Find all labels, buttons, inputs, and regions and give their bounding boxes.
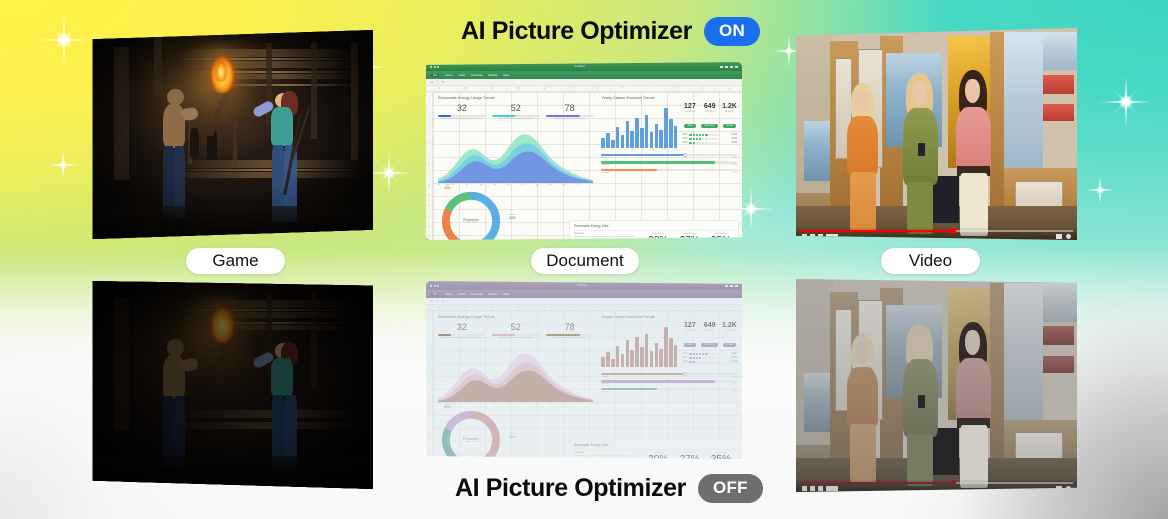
video-figure	[953, 70, 998, 235]
donut-chart[interactable]: Proportion Solar · 2024 Wind 22% Nuclear	[438, 188, 504, 240]
category-chip-document-label: Document	[546, 251, 623, 271]
volume-icon[interactable]	[818, 486, 823, 491]
xtick: 3	[612, 149, 613, 151]
video-figure	[900, 73, 945, 234]
slider-label: Biomass	[601, 164, 609, 166]
xtick: 01	[438, 184, 440, 186]
document-off-fade	[426, 281, 742, 459]
legend-dots	[689, 138, 729, 140]
xtick: 9	[642, 149, 643, 151]
video-progress-fill	[800, 230, 953, 232]
bar-chart[interactable]	[601, 106, 677, 148]
row-header[interactable]: 3	[426, 113, 432, 123]
area-chart-svg	[438, 125, 593, 183]
stat-value: 649	[701, 103, 718, 111]
row-header[interactable]: 10	[426, 185, 432, 195]
legend-dots	[689, 134, 729, 136]
game-panel-off[interactable]	[92, 281, 373, 489]
toggle-on-badge[interactable]: ON	[704, 17, 760, 46]
sheet-canvas: Renewable Energy Usage Trends 32 Solar R…	[433, 92, 742, 240]
promo-stage: AI Picture Optimizer ON	[0, 0, 1168, 519]
legend-value: 4,820	[731, 138, 737, 140]
video-panel-on[interactable]	[796, 28, 1077, 240]
header-on-title: AI Picture Optimizer	[461, 17, 692, 46]
game-dark-overlay-off	[92, 281, 373, 489]
row-header-column: 1 2 3 4 5 6 7 8 9 10 11 12 13 14 15 16	[426, 92, 433, 240]
play-icon[interactable]	[802, 486, 807, 491]
kpi-row: 32 Solar Renewable Energy Usage Overview…	[438, 103, 593, 121]
category-chip-video[interactable]: Video	[881, 248, 980, 274]
subtitles-icon[interactable]	[1056, 234, 1062, 239]
ribbon-file[interactable]: File	[431, 74, 439, 77]
xtick: 12	[591, 184, 593, 186]
donut-slice-value: 22%	[444, 186, 451, 190]
legend-year: 2019	[682, 142, 687, 144]
stat-label: PROJECTS	[682, 111, 697, 113]
kpi-value: 52	[492, 103, 540, 113]
legend-row: 2021 4,820	[682, 138, 737, 140]
donut-slice-value: 60%	[509, 216, 516, 220]
spreadsheet-window-on: Untitled File Home Insert Formulas Revie…	[426, 62, 742, 240]
kpi-value: 78	[546, 103, 594, 113]
area-chart-xaxis: 01 02 03 04 05 06 07 08 09 10 11	[438, 184, 593, 186]
xtick: 11	[652, 149, 654, 151]
category-chip-game-label: Game	[212, 251, 258, 271]
stat-card[interactable]: 1.2K RESULTS MORE	[722, 103, 737, 131]
video-progress-knob[interactable]	[950, 228, 956, 234]
time-text	[826, 486, 838, 491]
kpi-bar	[546, 115, 594, 117]
game-artwork-on	[92, 30, 373, 239]
stat-pill-button[interactable]: MORE	[723, 124, 736, 127]
video-figure	[953, 322, 998, 488]
ribbon-item-review[interactable]: Review	[488, 74, 497, 77]
stat-value: 1.2K	[722, 103, 737, 111]
slider-value: 84%	[733, 164, 737, 166]
slider-control[interactable]: Nuclear36%	[601, 154, 737, 159]
slider-label: Nuclear	[601, 157, 608, 159]
left-dashboard-panel: Renewable Energy Usage Trends 32 Solar R…	[438, 96, 593, 240]
row-header[interactable]: 5	[426, 133, 432, 143]
legend-row: 2023 5,230	[682, 134, 737, 136]
stat-label: RESULTS	[722, 111, 737, 113]
video-artwork-off	[796, 279, 1077, 492]
xtick: 03	[466, 184, 468, 186]
stat-value: 127	[682, 103, 697, 111]
row-header[interactable]: 9	[426, 174, 432, 184]
ribbon-item-insert[interactable]: Insert	[459, 74, 466, 77]
window-dots	[430, 66, 439, 68]
video-progress-track[interactable]	[800, 482, 1073, 484]
kpi-caption: Solar Renewable Energy Usage Overview	[438, 118, 486, 121]
stat-pill-button[interactable]: VIEW	[684, 124, 696, 127]
kpi-card[interactable]: 52 Annual Renewable Energy Growth	[492, 103, 540, 121]
ribbon-item-home[interactable]: Home	[445, 74, 452, 77]
video-progress-fill	[800, 482, 953, 484]
kpi-bar	[438, 115, 486, 117]
column-header[interactable]: I	[637, 86, 663, 91]
sheet-body: 1 2 3 4 5 6 7 8 9 10 11 12 13 14 15 16	[426, 92, 742, 240]
slider-value: 36%	[733, 157, 737, 159]
video-figure	[844, 334, 886, 483]
donut-label-nuclear: Nuclear 60%	[509, 214, 516, 220]
xtick: 05	[494, 184, 496, 186]
formula-bar[interactable]: A1 fx	[426, 79, 742, 86]
xtick: 02	[452, 184, 454, 186]
slider-control[interactable]: Thermal41%	[601, 169, 737, 174]
video-right-controls[interactable]	[1056, 234, 1071, 239]
xtick: 5	[622, 149, 623, 151]
xtick: 07	[522, 184, 524, 186]
column-header[interactable]: E	[531, 86, 557, 91]
bar-chart-xaxis: 1 3 5 7 9 11 13 15	[601, 149, 677, 151]
legend-year: 2021	[682, 138, 687, 140]
table-card-title: Renewable Energy Tabs	[574, 224, 734, 231]
header-off-title: AI Picture Optimizer	[455, 474, 686, 503]
slider-label: Thermal	[601, 172, 609, 174]
cell-reference[interactable]: A1	[430, 81, 433, 84]
row-header[interactable]: 4	[426, 123, 432, 133]
kpi-card[interactable]: 78 Total Renewable Grid Coverage	[546, 103, 594, 121]
donut-subtitle: Solar · 2024	[465, 222, 477, 224]
table-card[interactable]: Renewable Energy Tabs Overview Renewable…	[569, 220, 739, 240]
column-header[interactable]: K	[689, 86, 715, 91]
toggle-off-badge[interactable]: OFF	[698, 474, 763, 503]
right-dashboard-panel: Yearly Carbon Emission Trends	[601, 96, 737, 240]
formula-fx-icon: fx	[442, 81, 444, 84]
window-title: Untitled	[439, 65, 720, 68]
xtick: 06	[508, 184, 510, 186]
right-panel-title: Yearly Carbon Emission Trends	[601, 96, 737, 100]
slider-control[interactable]: Biomass84%	[601, 161, 737, 166]
legend-value: 5,230	[731, 134, 737, 136]
column-header[interactable]: J	[663, 86, 689, 91]
row-header[interactable]: 13	[426, 216, 432, 226]
video-panel-off[interactable]	[796, 279, 1077, 492]
row-header[interactable]: 6	[426, 143, 432, 153]
category-chip-game[interactable]: Game	[186, 248, 285, 274]
xtick: 10	[563, 184, 565, 186]
donut-label-wind: Wind 22%	[444, 184, 451, 190]
stat-pill-button[interactable]: REPORTS	[701, 124, 718, 127]
slider-value: 41%	[733, 172, 737, 174]
video-figure	[900, 324, 945, 486]
row-header[interactable]: 12	[426, 205, 432, 215]
row-header[interactable]: 2	[426, 102, 432, 112]
area-chart[interactable]	[438, 125, 593, 183]
legend-dots	[689, 142, 729, 144]
donut-center-label: Proportion Solar · 2024	[438, 188, 504, 240]
stats-row: 127 PROJECTS VIEW 649 REPORTS REPORTS	[682, 103, 737, 131]
legend-row: 2019 3,700	[682, 142, 737, 144]
ribbon-item-view[interactable]: View	[503, 74, 509, 77]
xtick: 11	[577, 184, 579, 186]
category-chip-document[interactable]: Document	[531, 248, 639, 274]
xtick: 09	[549, 184, 551, 186]
window-controls[interactable]	[720, 66, 738, 68]
game-artwork-off	[92, 281, 373, 489]
column-header[interactable]: H	[610, 86, 636, 91]
stat-card[interactable]: 127 PROJECTS VIEW	[682, 103, 697, 131]
video-left-controls[interactable]	[802, 486, 838, 491]
column-header[interactable]: C	[479, 86, 505, 91]
kpi-bar	[492, 115, 540, 117]
header-on: AI Picture Optimizer ON	[461, 17, 760, 46]
video-figure	[844, 83, 886, 231]
category-chip-video-label: Video	[909, 251, 952, 271]
document-panel-off[interactable]: Untitled File Home Insert Formulas Revie…	[426, 281, 742, 459]
column-header[interactable]: G	[584, 86, 610, 91]
xtick: 1	[601, 149, 602, 151]
column-header[interactable]: F	[558, 86, 584, 91]
kpi-value: 32	[438, 103, 486, 113]
table-note-head: Overview	[574, 233, 641, 235]
xtick: 15	[675, 149, 677, 151]
column-header[interactable]: A	[426, 86, 452, 91]
video-artwork-on	[796, 28, 1077, 240]
row-header[interactable]: 15	[426, 236, 432, 240]
ribbon-item-formulas[interactable]: Formulas	[471, 74, 482, 77]
next-icon[interactable]	[810, 486, 815, 491]
row-header[interactable]: 1	[426, 92, 432, 102]
column-header[interactable]: D	[505, 86, 531, 91]
kpi-caption: Annual Renewable Energy Growth	[492, 118, 540, 121]
row-header[interactable]: 11	[426, 195, 432, 205]
stat-label: REPORTS	[701, 111, 718, 113]
xtick: 13	[663, 149, 665, 151]
kpi-caption: Total Renewable Grid Coverage	[546, 118, 594, 121]
document-panel-on[interactable]: Untitled File Home Insert Formulas Revie…	[426, 62, 742, 240]
row-header[interactable]: 7	[426, 154, 432, 164]
header-off: AI Picture Optimizer OFF	[455, 474, 763, 503]
ribbon-menu[interactable]: File Home Insert Formulas Review View	[426, 71, 742, 79]
video-progress-track[interactable]	[800, 230, 1073, 232]
game-panel-on[interactable]	[92, 30, 373, 239]
legend-year: 2023	[682, 134, 687, 136]
column-header[interactable]: L	[716, 86, 742, 91]
xtick: 7	[632, 149, 633, 151]
xtick: 04	[480, 184, 482, 186]
row-header[interactable]: 8	[426, 164, 432, 174]
left-panel-title: Renewable Energy Usage Trends	[438, 96, 593, 100]
xtick: 08	[535, 184, 537, 186]
kpi-card[interactable]: 32 Solar Renewable Energy Usage Overview	[438, 103, 486, 121]
legend-value: 3,700	[731, 142, 737, 144]
settings-icon[interactable]	[1066, 234, 1071, 239]
stat-card[interactable]: 649 REPORTS REPORTS	[701, 103, 718, 131]
video-progress-knob[interactable]	[950, 480, 956, 486]
row-header[interactable]: 14	[426, 226, 432, 236]
column-header[interactable]: B	[452, 86, 478, 91]
